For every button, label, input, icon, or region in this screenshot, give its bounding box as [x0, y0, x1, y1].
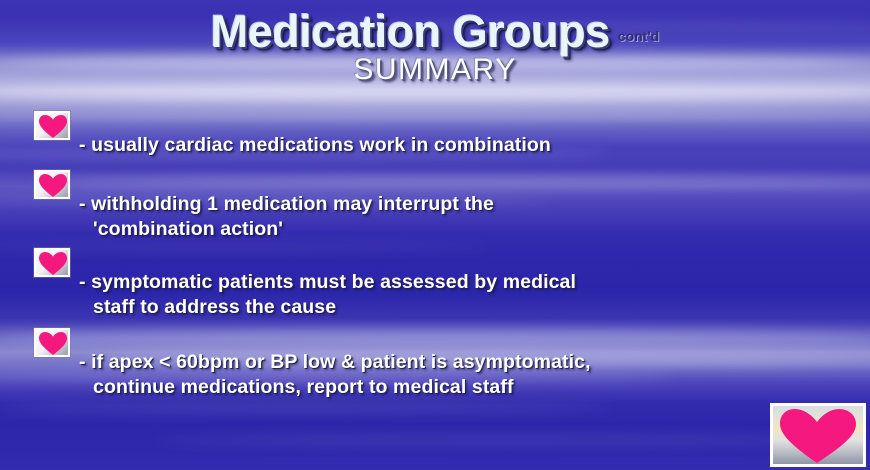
heart-logo-icon: [777, 407, 859, 464]
slide-canvas: Medication Groupscont'd SUMMARY - usuall…: [0, 0, 870, 470]
list-item-line1: - if apex < 60bpm or BP low & patient is…: [79, 351, 591, 373]
list-item-label: - if apex < 60bpm or BP low & patient is…: [79, 325, 591, 425]
corner-logo-frame: [773, 406, 863, 464]
list-item-line1: - symptomatic patients must be assessed …: [79, 271, 576, 293]
list-item-line1: - usually cardiac medications work in co…: [79, 134, 551, 156]
heart-icon: [34, 248, 70, 277]
heart-icon: [34, 170, 70, 199]
list-item-line1: - withholding 1 medication may interrupt…: [79, 193, 494, 215]
heart-icon: [34, 111, 70, 140]
list-item: - usually cardiac medications work in co…: [34, 108, 551, 158]
list-item-label: - usually cardiac medications work in co…: [79, 108, 551, 158]
list-item: - if apex < 60bpm or BP low & patient is…: [34, 325, 591, 425]
list-item-line2: staff to address the cause: [79, 295, 576, 320]
list-item-line2: continue medications, report to medical …: [79, 375, 591, 400]
corner-logo: [770, 403, 866, 467]
bullet-list: - usually cardiac medications work in co…: [0, 0, 870, 470]
heart-icon: [34, 328, 70, 357]
list-item-line2: 'combination action': [79, 217, 494, 242]
